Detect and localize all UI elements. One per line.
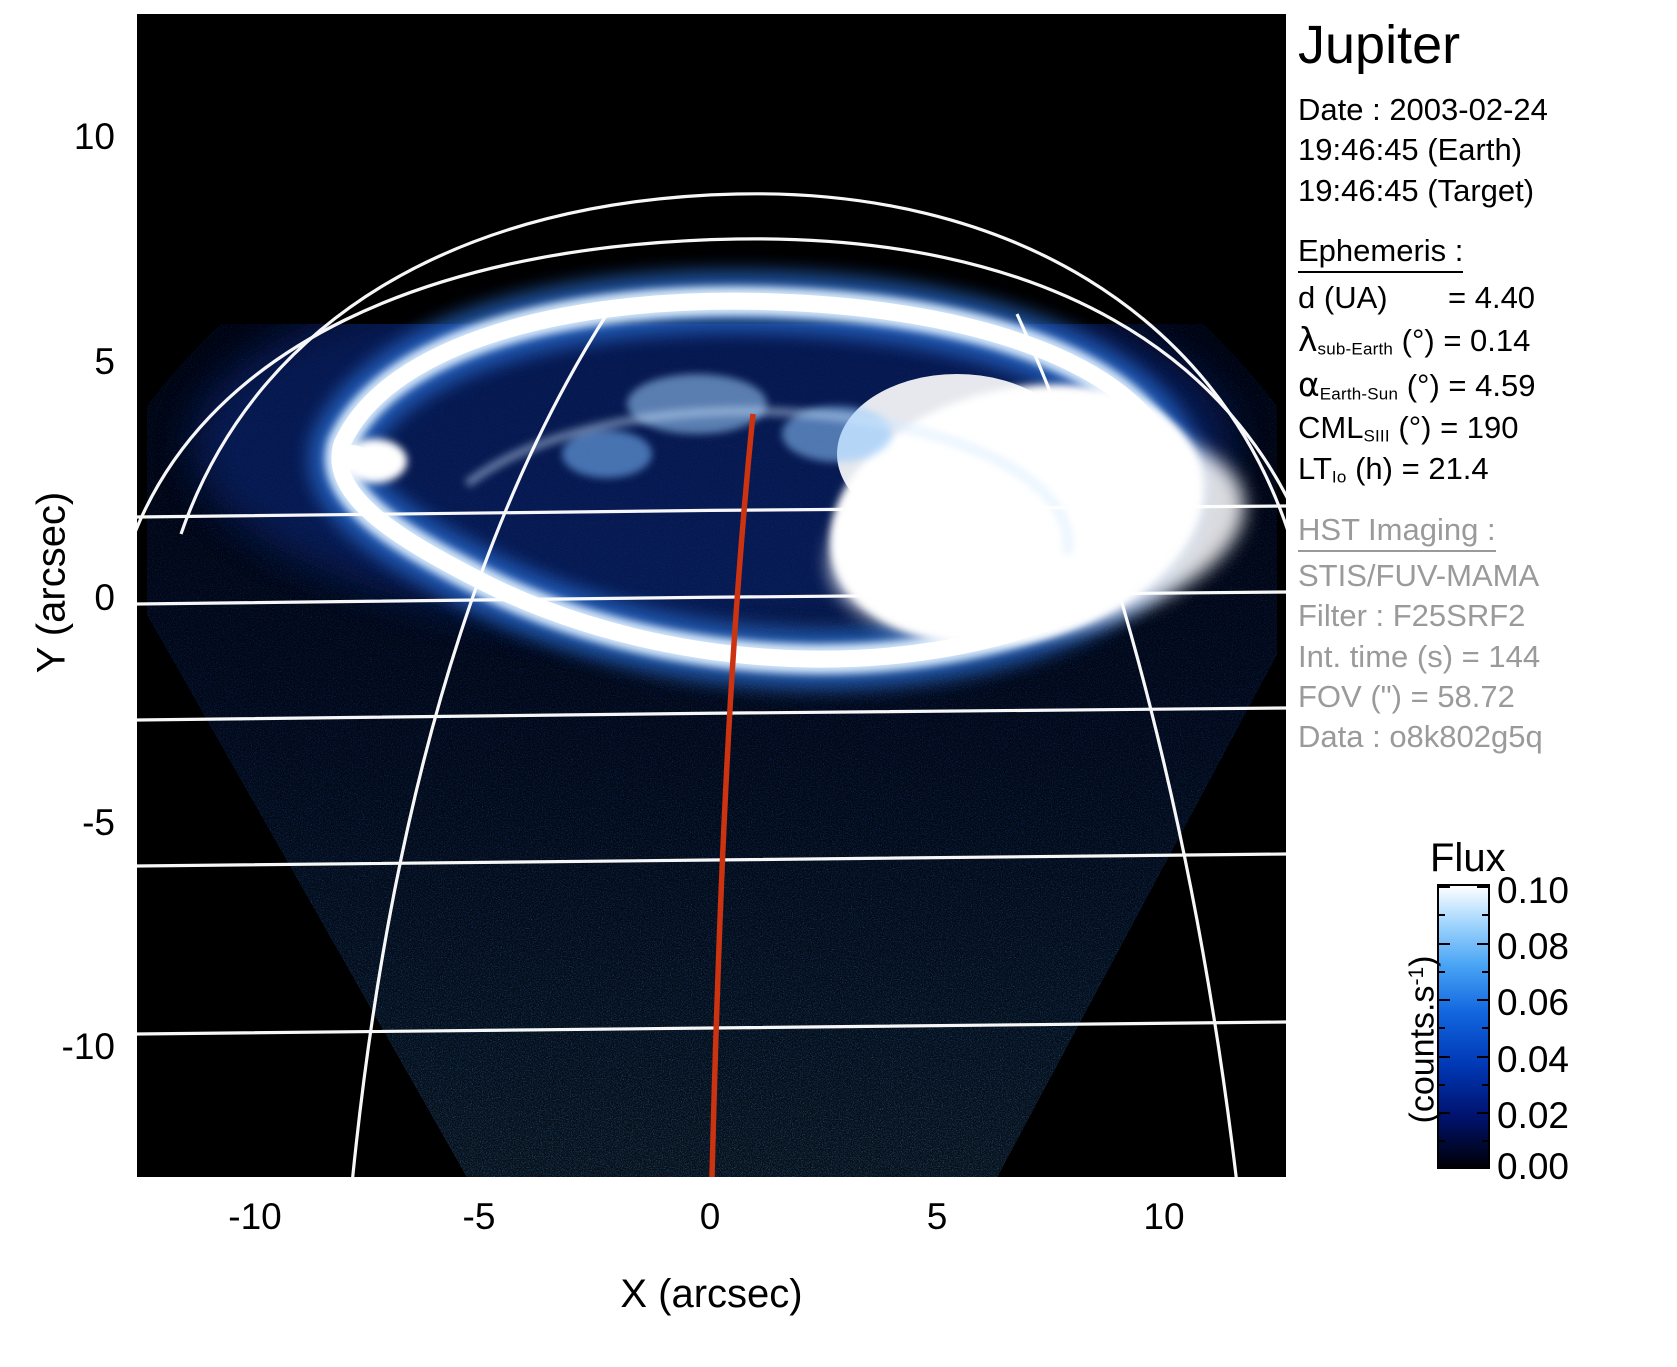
hst-filter: Filter : F25SRF2	[1298, 596, 1677, 636]
x-tick-label: 0	[650, 1196, 770, 1238]
ephemeris-row-distance: d (UA)= 4.40	[1298, 277, 1677, 319]
colorbar-tick-label: 0.04	[1497, 1039, 1569, 1081]
hst-instrument: STIS/FUV-MAMA	[1298, 556, 1677, 596]
hst-data-id: Data : o8k802g5q	[1298, 717, 1677, 757]
x-tick-label: -5	[419, 1196, 539, 1238]
observation-date: Date : 2003-02-24	[1298, 90, 1677, 130]
info-panel: Jupiter Date : 2003-02-24 19:46:45 (Eart…	[1298, 0, 1677, 757]
y-tick-label: 5	[20, 341, 115, 383]
aurora-image	[137, 14, 1286, 1177]
hst-imaging-heading: HST Imaging :	[1298, 512, 1496, 552]
ephemeris-row-cml: CMLSIII (°) = 190	[1298, 407, 1677, 449]
ephemeris-label-alpha: α	[1298, 365, 1320, 404]
target-title: Jupiter	[1298, 18, 1677, 72]
ephemeris-section: Ephemeris : d (UA)= 4.40 λsub-Earth (°) …	[1298, 233, 1677, 490]
colorbar-axis-title-exponent: -1	[1405, 967, 1428, 986]
ephemeris-label-d: d	[1298, 280, 1315, 315]
ephemeris-value-lambda: = 0.14	[1443, 323, 1530, 358]
colorbar-tick-label: 0.00	[1497, 1146, 1569, 1188]
ephemeris-value-cml: = 190	[1440, 410, 1518, 445]
hst-imaging-section: HST Imaging : STIS/FUV-MAMA Filter : F25…	[1298, 512, 1677, 757]
x-tick-label: -10	[195, 1196, 315, 1238]
colorbar-tick-label: 0.06	[1497, 982, 1569, 1024]
figure-root: 10 5 0 -5 -10 -10 -5 0 5 10 X (arcsec) Y…	[0, 0, 1677, 1367]
jupiter-image-panel	[137, 14, 1286, 1177]
colorbar-tick-label: 0.10	[1497, 870, 1569, 912]
y-tick-label: -10	[20, 1026, 115, 1068]
observation-time-target: 19:46:45 (Target)	[1298, 171, 1677, 211]
ephemeris-sub-lt: Io	[1332, 468, 1347, 487]
ephemeris-unit-lt: (h)	[1355, 451, 1393, 486]
ephemeris-value-alpha: = 4.59	[1448, 368, 1535, 403]
colorbar-tick-label: 0.08	[1497, 926, 1569, 968]
x-tick-label: 10	[1104, 1196, 1224, 1238]
y-axis-title: Y (arcsec)	[30, 383, 75, 783]
hst-fov: FOV (") = 58.72	[1298, 677, 1677, 717]
ephemeris-label-lt: LT	[1298, 451, 1332, 486]
ephemeris-unit-d: (UA)	[1324, 280, 1388, 315]
ephemeris-heading: Ephemeris :	[1298, 233, 1463, 273]
hst-int-time: Int. time (s) = 144	[1298, 637, 1677, 677]
ephemeris-value-d: = 4.40	[1448, 280, 1535, 315]
y-tick-label: -5	[20, 802, 115, 844]
ephemeris-unit-lambda: (°)	[1402, 323, 1435, 358]
ephemeris-row-lambda: λsub-Earth (°) = 0.14	[1298, 318, 1677, 362]
ephemeris-sub-lambda: sub-Earth	[1318, 340, 1394, 359]
ephemeris-sub-alpha: Earth-Sun	[1320, 384, 1398, 403]
ephemeris-unit-cml: (°)	[1398, 410, 1431, 445]
ephemeris-value-lt: = 21.4	[1402, 451, 1489, 486]
ephemeris-unit-alpha: (°)	[1407, 368, 1440, 403]
colorbar-tick-label: 0.02	[1497, 1095, 1569, 1137]
x-axis-title: X (arcsec)	[137, 1272, 1286, 1317]
flux-colorbar	[1437, 884, 1490, 1169]
ephemeris-label-lambda: λ	[1298, 320, 1318, 359]
y-tick-label: 10	[20, 116, 115, 158]
colorbar-axis-title-suffix: )	[1404, 956, 1442, 967]
ephemeris-sub-cml: SIII	[1363, 427, 1389, 446]
observation-time-earth: 19:46:45 (Earth)	[1298, 130, 1677, 170]
ephemeris-label-cml: CML	[1298, 410, 1363, 445]
ephemeris-row-lt: LTIo (h) = 21.4	[1298, 448, 1677, 490]
colorbar-axis-title: (counts.s-1)	[1404, 875, 1443, 1205]
x-tick-label: 5	[877, 1196, 997, 1238]
colorbar-ticks	[1439, 886, 1488, 1167]
ephemeris-row-alpha: αEarth-Sun (°) = 4.59	[1298, 363, 1677, 407]
colorbar-axis-title-prefix: (counts.s	[1404, 986, 1442, 1124]
